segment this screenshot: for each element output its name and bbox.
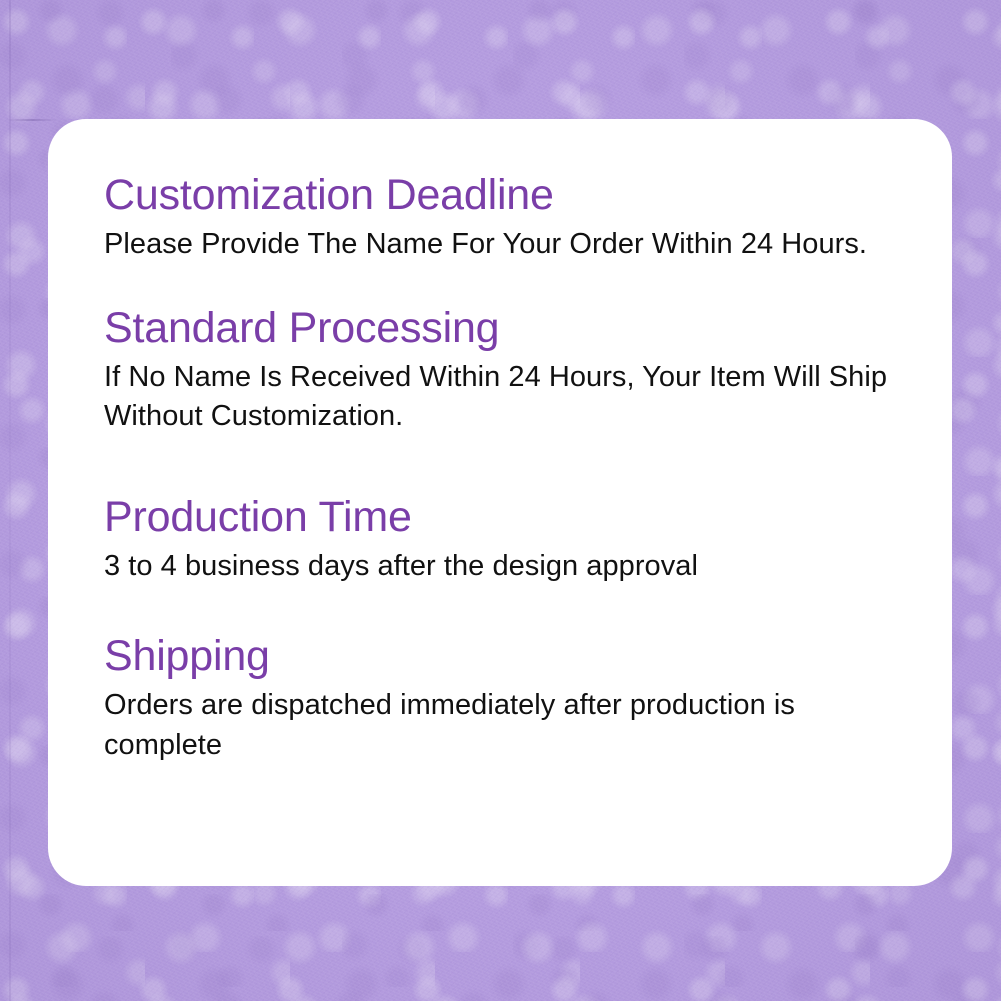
section-body-production-time: 3 to 4 business days after the design ap… [104, 547, 904, 586]
section-production-time: Production Time 3 to 4 business days aft… [104, 493, 904, 587]
section-heading-customization-deadline: Customization Deadline [104, 171, 904, 219]
section-body-customization-deadline: Please Provide The Name For Your Order W… [104, 225, 904, 264]
policy-card-graphic: Customization Deadline Please Provide Th… [0, 0, 1001, 1001]
section-heading-standard-processing: Standard Processing [104, 304, 904, 352]
section-customization-deadline: Customization Deadline Please Provide Th… [104, 171, 904, 265]
section-heading-production-time: Production Time [104, 493, 904, 541]
info-card: Customization Deadline Please Provide Th… [48, 119, 952, 886]
policy-section-list: Customization Deadline Please Provide Th… [104, 171, 904, 765]
section-heading-shipping: Shipping [104, 632, 904, 680]
section-body-standard-processing: If No Name Is Received Within 24 Hours, … [104, 358, 904, 437]
section-shipping: Shipping Orders are dispatched immediate… [104, 632, 904, 765]
section-standard-processing: Standard Processing If No Name Is Receiv… [104, 304, 904, 437]
section-body-shipping: Orders are dispatched immediately after … [104, 686, 904, 765]
